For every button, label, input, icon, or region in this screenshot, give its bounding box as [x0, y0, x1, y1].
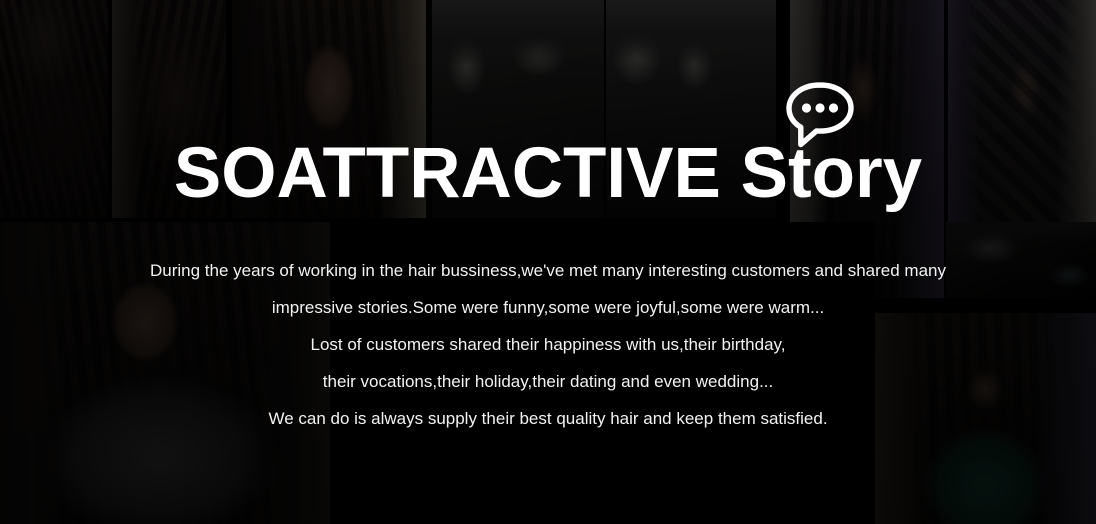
story-paragraph: During the years of working in the hair … — [0, 252, 1096, 437]
story-line-5: We can do is always supply their best qu… — [0, 400, 1096, 437]
story-line-2: impressive stories.Some were funny,some … — [0, 289, 1096, 326]
banner-content: SOATTRACTIVE Story During the years of w… — [0, 0, 1096, 524]
page-title: SOATTRACTIVE Story — [0, 138, 1096, 209]
story-line-1: During the years of working in the hair … — [0, 252, 1096, 289]
story-line-3: Lost of customers shared their happiness… — [0, 326, 1096, 363]
headline-text: SOATTRACTIVE Story — [174, 134, 922, 213]
soattractive-story-banner: SOATTRACTIVE Story During the years of w… — [0, 0, 1096, 524]
story-line-4: their vocations,their holiday,their dati… — [0, 363, 1096, 400]
